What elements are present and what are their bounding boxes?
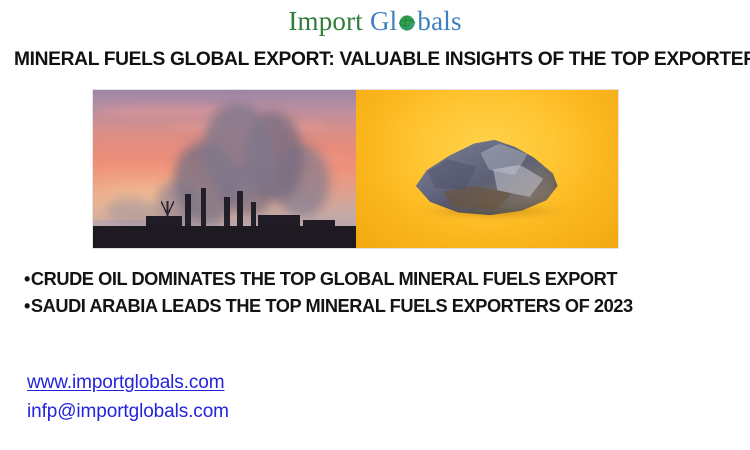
image-coal-rock <box>356 90 619 248</box>
smokestack <box>185 194 191 229</box>
brand-logo-text: Import Gl bals <box>288 8 461 35</box>
website-link[interactable]: www.importglobals.com <box>27 368 229 397</box>
media-band <box>93 90 618 248</box>
email-address[interactable]: infp@importglobals.com <box>27 397 229 426</box>
contact-block: www.importglobals.com infp@importglobals… <box>27 368 229 427</box>
smokestack <box>237 191 243 229</box>
smokestack <box>201 188 207 229</box>
cloud-streak <box>93 142 198 151</box>
bullet-marker: • <box>24 295 30 316</box>
image-smokestacks <box>93 90 356 248</box>
key-points-list: •CRUDE OIL DOMINATES THE TOP GLOBAL MINE… <box>24 266 739 320</box>
list-item-label: CRUDE OIL DOMINATES THE TOP GLOBAL MINER… <box>31 268 617 289</box>
brand-logo[interactable]: Import Gl bals <box>0 8 750 35</box>
brand-logo-gl: Gl <box>370 6 397 36</box>
ground-silhouette <box>93 226 356 248</box>
page-title: MINERAL FUELS GLOBAL EXPORT: VALUABLE IN… <box>14 48 725 70</box>
globe-icon <box>397 13 417 33</box>
slide-canvas: Import Gl bals MINERAL FUELS GLOBAL EXPO… <box>0 0 750 450</box>
list-item-label: SAUDI ARABIA LEADS THE TOP MINERAL FUELS… <box>31 295 633 316</box>
list-item: •SAUDI ARABIA LEADS THE TOP MINERAL FUEL… <box>24 293 728 320</box>
list-item: •CRUDE OIL DOMINATES THE TOP GLOBAL MINE… <box>24 266 728 293</box>
smoke-plume <box>203 103 274 201</box>
brand-logo-import: Import <box>288 6 363 36</box>
smokestack <box>224 197 230 229</box>
brand-logo-bals: bals <box>417 6 461 36</box>
bullet-marker: • <box>24 268 30 289</box>
